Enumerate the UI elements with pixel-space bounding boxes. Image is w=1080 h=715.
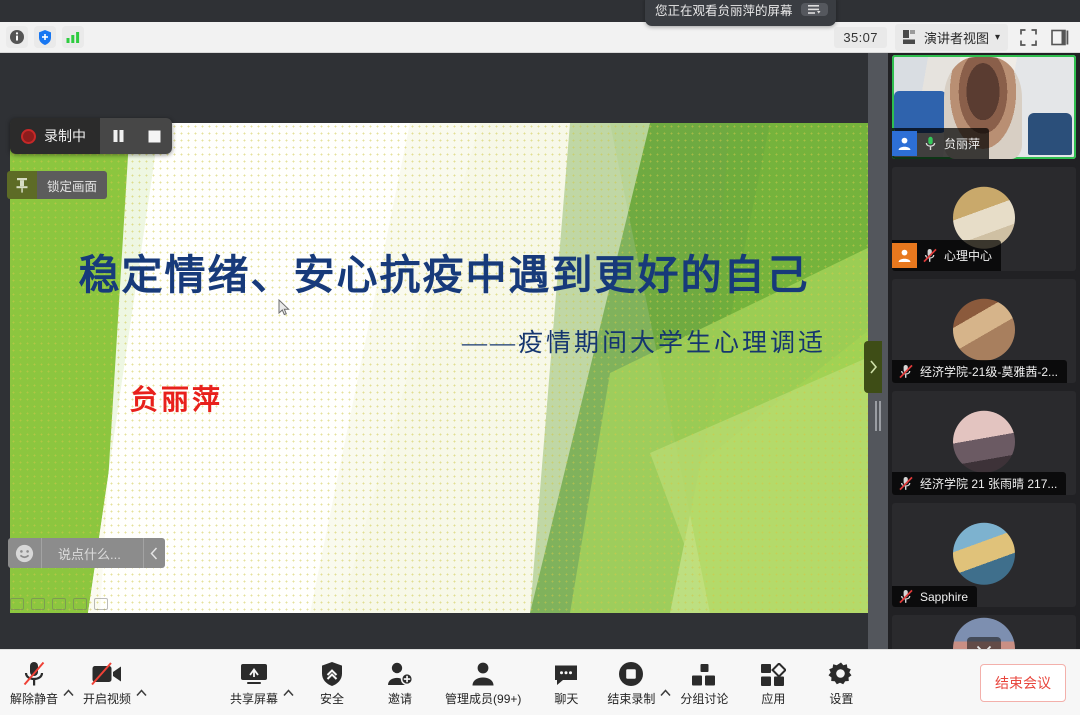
slide-author: 贠丽萍 — [130, 378, 223, 418]
meeting-timer: 35:07 — [834, 27, 887, 48]
participant-namebar: 心理中心 — [892, 240, 1001, 271]
participant-rail[interactable]: 贠丽萍 — [888, 53, 1080, 649]
smiley-icon[interactable] — [8, 538, 42, 568]
top-toolbar: 35:07 演讲者视图 ▾ — [0, 22, 1080, 53]
stop-recording-label: 结束录制 — [607, 690, 655, 707]
network-signal-icon[interactable] — [62, 26, 84, 48]
top-left-icons — [0, 26, 84, 48]
chevron-right-icon — [869, 360, 878, 374]
start-video-button[interactable]: 开启视频 — [79, 659, 135, 707]
chat-bubble-icon — [553, 659, 579, 687]
info-icon[interactable] — [6, 26, 28, 48]
breakout-rooms-icon — [691, 659, 717, 687]
mic-muted-icon — [898, 364, 915, 379]
record-dot-icon — [21, 129, 36, 144]
mic-muted-icon — [922, 248, 939, 263]
chevron-up-icon — [63, 689, 74, 697]
meeting-window: 您正在观看贠丽萍的屏幕 — [0, 0, 1080, 715]
recording-options-caret[interactable] — [659, 661, 676, 705]
top-right-controls: 35:07 演讲者视图 ▾ — [834, 24, 1080, 51]
recording-status: 录制中 — [10, 118, 100, 154]
share-screen-button[interactable]: 共享屏幕 — [226, 659, 282, 707]
divider-grip[interactable] — [875, 401, 882, 431]
mic-muted-icon — [21, 659, 47, 687]
avatar — [953, 523, 1015, 585]
unmute-button[interactable]: 解除静音 — [6, 659, 62, 707]
annot-shape-icon — [52, 598, 66, 610]
scroll-down-button[interactable] — [967, 637, 1001, 649]
annot-text-icon — [31, 598, 45, 610]
list-menu-icon — [808, 5, 821, 14]
shield-security-icon[interactable] — [34, 26, 56, 48]
chat-collapse-button[interactable] — [143, 538, 165, 568]
chevron-up-icon — [660, 689, 671, 697]
slide-subtitle: ——疫情期间大学生心理调适 — [462, 323, 826, 359]
settings-label: 设置 — [829, 690, 853, 707]
pin-icon — [7, 171, 37, 199]
participant-tile-5[interactable] — [892, 615, 1076, 649]
apps-label: 应用 — [761, 690, 785, 707]
annot-pointer-icon — [94, 598, 108, 610]
participant-namebar: 贠丽萍 — [892, 128, 989, 159]
participant-name: 经济学院-21级-莫雅茜-2... — [920, 363, 1058, 380]
share-screen-label: 共享屏幕 — [230, 690, 278, 707]
mic-muted-icon — [898, 476, 915, 491]
participant-name: 心理中心 — [944, 247, 992, 264]
pause-recording-button[interactable] — [100, 118, 136, 154]
recording-label: 录制中 — [44, 126, 86, 146]
security-label: 安全 — [320, 690, 344, 707]
manage-participants-label: 管理成员(99+) — [445, 690, 521, 707]
video-scene-chair — [1028, 113, 1072, 155]
breakout-rooms-button[interactable]: 分组讨论 — [676, 659, 732, 707]
stop-record-icon — [618, 659, 644, 687]
apps-button[interactable]: 应用 — [746, 659, 800, 707]
settings-button[interactable]: 设置 — [814, 659, 868, 707]
slide-title: 稳定情绪、安心抗疫中遇到更好的自己 — [10, 241, 878, 301]
participant-tile-3[interactable]: 经济学院 21 张雨晴 217... — [892, 391, 1076, 495]
stop-recording-button[interactable]: 结束录制 — [603, 659, 659, 707]
security-shield-icon — [320, 659, 344, 687]
gear-icon — [828, 659, 854, 687]
view-mode-selector[interactable]: 演讲者视图 ▾ — [895, 24, 1008, 51]
pause-icon — [112, 129, 125, 143]
chevron-up-icon — [283, 689, 294, 697]
end-meeting-button[interactable]: 结束会议 — [980, 664, 1066, 702]
participant-namebar: 经济学院-21级-莫雅茜-2... — [892, 360, 1067, 383]
view-mode-label: 演讲者视图 — [924, 28, 989, 47]
participant-tile-0[interactable]: 贠丽萍 — [892, 55, 1076, 159]
invite-label: 邀请 — [388, 690, 412, 707]
apps-icon — [760, 659, 786, 687]
chevron-left-icon — [150, 547, 158, 560]
stop-icon — [148, 130, 161, 143]
invite-person-icon — [387, 659, 413, 687]
chat-label: 聊天 — [554, 690, 578, 707]
fullscreen-icon[interactable] — [1016, 25, 1040, 49]
participant-namebar: Sapphire — [892, 586, 977, 607]
share-screen-icon — [240, 659, 268, 687]
security-button[interactable]: 安全 — [305, 659, 359, 707]
mic-on-icon — [922, 136, 939, 151]
chat-button[interactable]: 聊天 — [539, 659, 593, 707]
video-off-icon — [91, 659, 123, 687]
breakout-rooms-label: 分组讨论 — [680, 690, 728, 707]
chat-input-overlay[interactable]: 说点什么... — [8, 538, 165, 568]
participant-name: Sapphire — [920, 590, 968, 604]
chevron-up-icon — [136, 689, 147, 697]
lock-screen-button[interactable]: 锁定画面 — [7, 171, 107, 199]
participant-badge-icon — [892, 131, 917, 156]
watching-banner-text: 您正在观看贠丽萍的屏幕 — [655, 0, 793, 19]
chevron-down-icon: ▾ — [995, 32, 1000, 43]
manage-participants-button[interactable]: 管理成员(99+) — [441, 659, 525, 707]
participant-name: 经济学院 21 张雨晴 217... — [920, 475, 1057, 492]
lock-screen-label: 锁定画面 — [37, 171, 107, 199]
participant-tile-4[interactable]: Sapphire — [892, 503, 1076, 607]
audio-options-caret[interactable] — [62, 661, 79, 705]
participant-tile-2[interactable]: 经济学院-21级-莫雅茜-2... — [892, 279, 1076, 383]
expand-panel-button[interactable] — [864, 341, 882, 393]
chat-input-placeholder[interactable]: 说点什么... — [42, 544, 143, 563]
participants-icon — [470, 659, 496, 687]
video-scene-sofa — [894, 91, 946, 133]
watching-screen-banner: 您正在观看贠丽萍的屏幕 — [645, 0, 836, 26]
stop-recording-button[interactable] — [136, 118, 172, 154]
video-options-caret[interactable] — [135, 661, 152, 705]
split-view-icon[interactable] — [1048, 25, 1072, 49]
banner-menu-button[interactable] — [801, 3, 828, 16]
unmute-label: 解除静音 — [10, 690, 58, 707]
annotation-toolbar-remnant[interactable] — [10, 598, 108, 610]
layout-icon — [903, 30, 918, 44]
bottom-toolbar: 解除静音 开启视频 — [0, 649, 1080, 715]
shared-screen-stage: 稳定情绪、安心抗疫中遇到更好的自己 ——疫情期间大学生心理调适 贠丽萍 录制中 — [0, 53, 888, 649]
mouse-cursor — [278, 299, 291, 322]
participant-badge-icon — [892, 243, 917, 268]
mic-muted-icon — [898, 589, 915, 604]
avatar — [953, 299, 1015, 361]
invite-button[interactable]: 邀请 — [373, 659, 427, 707]
annot-pen-icon — [10, 598, 24, 610]
participant-name: 贠丽萍 — [944, 135, 980, 152]
share-options-caret[interactable] — [282, 661, 299, 705]
start-video-label: 开启视频 — [83, 690, 131, 707]
annot-stamp-icon — [73, 598, 87, 610]
recording-indicator: 录制中 — [10, 118, 172, 154]
participant-tile-1[interactable]: 心理中心 — [892, 167, 1076, 271]
avatar — [953, 411, 1015, 473]
participant-namebar: 经济学院 21 张雨晴 217... — [892, 472, 1066, 495]
